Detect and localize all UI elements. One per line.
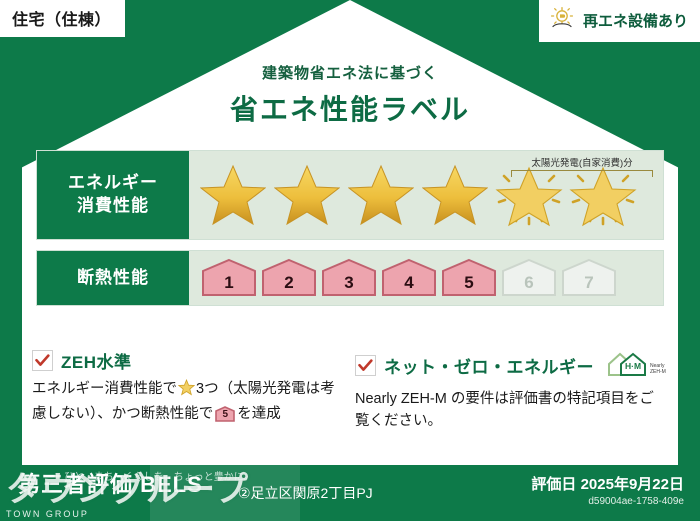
evaluation-id: d59004ae-1758-409e xyxy=(531,496,684,507)
star-filled xyxy=(345,151,417,239)
energy-caption-line1: エネルギー xyxy=(68,172,158,195)
energy-caption-line2: 消費性能 xyxy=(68,195,158,218)
star-filled xyxy=(419,151,491,239)
notes-section: ZEH水準 エネルギー消費性能で3つ（太陽光発電は考慮しない）、かつ断熱性能で5… xyxy=(32,348,668,433)
energy-performance-label: 住宅（住棟） 再エネ設備あり 建築物省エネ法に基づく 省エネ性能ラベル エ xyxy=(0,0,700,521)
insulation-level-badge: 6 xyxy=(501,258,557,298)
evaluation-date-label: 評価日 xyxy=(531,476,576,493)
note-body-part3: を達成 xyxy=(237,406,281,422)
note-body: Nearly ZEH-M の要件は評価書の特記項目をご覧ください。 xyxy=(355,389,668,433)
insulation-level-badge: 5 xyxy=(441,258,497,298)
star-filled xyxy=(197,151,269,239)
sun-icon xyxy=(549,6,575,35)
building-type-tag: 住宅（住棟） xyxy=(0,0,125,37)
check-icon xyxy=(32,350,53,371)
insulation-level-badge: 3 xyxy=(321,258,377,298)
solar-bracket-line xyxy=(511,170,653,177)
insulation-level-badges: 1 2 3 4 5 xyxy=(189,251,663,305)
note-body: エネルギー消費性能で3つ（太陽光発電は考慮しない）、かつ断熱性能で5を達成 xyxy=(32,379,339,430)
performance-rows: エネルギー 消費性能 太陽光発電(自家消費)分 xyxy=(36,150,664,316)
insulation-levels-area: 1 2 3 4 5 xyxy=(189,251,663,305)
energy-performance-row: エネルギー 消費性能 太陽光発電(自家消費)分 xyxy=(36,150,664,240)
insulation-level-badge-inline: 5 xyxy=(215,406,235,430)
note-header: ZEH水準 xyxy=(32,348,339,373)
title-subtitle: 建築物省エネ法に基づく xyxy=(0,62,700,83)
insulation-performance-caption: 断熱性能 xyxy=(37,251,189,305)
note-net-zero-energy: ネット・ゼロ・エネルギー H·M Nearly ZEH-M Nearly ZEH… xyxy=(355,348,668,433)
insulation-level-number: 3 xyxy=(344,273,353,298)
bels-label: 第三者評価 BELS xyxy=(18,473,203,496)
energy-stars-area: 太陽光発電(自家消費)分 xyxy=(189,151,663,239)
project-name: ②足立区関原2丁目PJ xyxy=(238,483,373,503)
renewable-equipment-tag: 再エネ設備あり xyxy=(539,0,700,42)
insulation-level-number: 5 xyxy=(215,407,235,422)
insulation-level-badge: 7 xyxy=(561,258,617,298)
note-title: ZEH水準 xyxy=(61,348,132,373)
footer-bar: 第三者評価 BELS ②足立区関原2丁目PJ 評価日 2025年9月22日 d5… xyxy=(0,465,700,521)
svg-text:H·M: H·M xyxy=(625,361,641,371)
solar-generation-note: 太陽光発電(自家消費)分 xyxy=(511,155,653,169)
insulation-level-number: 6 xyxy=(524,273,533,298)
nearly-zeh-m-logo: H·M Nearly ZEH-M xyxy=(606,348,668,383)
insulation-level-number: 7 xyxy=(584,273,593,298)
insulation-performance-row: 断熱性能 1 2 3 xyxy=(36,250,664,306)
svg-text:ZEH-M: ZEH-M xyxy=(650,369,666,375)
renewable-equipment-label: 再エネ設備あり xyxy=(583,10,688,31)
label-title-block: 建築物省エネ法に基づく 省エネ性能ラベル xyxy=(0,62,700,128)
insulation-level-number: 4 xyxy=(404,273,413,298)
solar-generation-bracket: 太陽光発電(自家消費)分 xyxy=(511,155,653,177)
evaluation-info: 評価日 2025年9月22日 d59004ae-1758-409e xyxy=(531,473,684,507)
star-filled xyxy=(271,151,343,239)
insulation-level-badge: 1 xyxy=(201,258,257,298)
evaluation-date: 評価日 2025年9月22日 xyxy=(531,473,684,494)
insulation-level-badge: 2 xyxy=(261,258,317,298)
insulation-level-badge: 4 xyxy=(381,258,437,298)
insulation-level-number: 1 xyxy=(224,273,233,298)
evaluation-date-value: 2025年9月22日 xyxy=(581,476,684,493)
note-body-part1: エネルギー消費性能で xyxy=(32,381,177,397)
energy-performance-caption: エネルギー 消費性能 xyxy=(37,151,189,239)
title-main: 省エネ性能ラベル xyxy=(0,88,700,128)
insulation-level-number: 5 xyxy=(464,273,473,298)
note-header: ネット・ゼロ・エネルギー H·M Nearly ZEH-M xyxy=(355,348,668,383)
bels-block: 第三者評価 BELS xyxy=(18,473,203,496)
note-title: ネット・ゼロ・エネルギー xyxy=(384,353,594,378)
star-icon xyxy=(178,379,195,404)
check-icon xyxy=(355,355,376,376)
building-type-label: 住宅（住棟） xyxy=(12,12,111,29)
insulation-level-number: 2 xyxy=(284,273,293,298)
note-zeh-standard: ZEH水準 エネルギー消費性能で3つ（太陽光発電は考慮しない）、かつ断熱性能で5… xyxy=(32,348,339,433)
